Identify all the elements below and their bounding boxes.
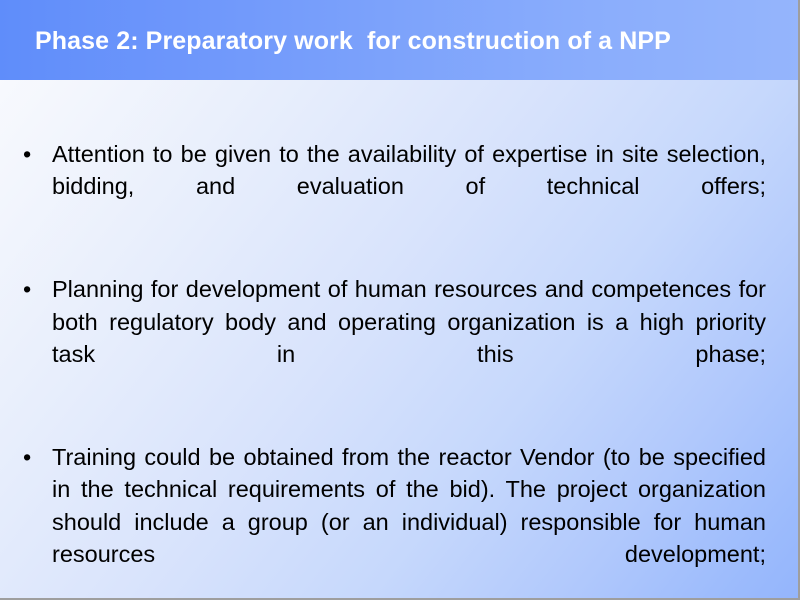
bullet-item-1: • Attention to be given to the availabil… (18, 138, 766, 235)
slide-title: Phase 2: Preparatory work for constructi… (35, 28, 780, 56)
slide-title-bar: Phase 2: Preparatory work for constructi… (0, 0, 800, 80)
slide-body: • Attention to be given to the availabil… (0, 80, 800, 600)
presentation-slide: Phase 2: Preparatory work for constructi… (0, 0, 800, 600)
bullet-marker-icon: • (23, 138, 31, 170)
bullet-marker-icon: • (23, 441, 31, 473)
bullet-list: • Attention to be given to the availabil… (18, 138, 766, 600)
bullet-marker-icon: • (23, 273, 31, 305)
bullet-text-3: Training could be obtained from the reac… (52, 441, 766, 600)
bullet-item-3: • Training could be obtained from the re… (18, 441, 766, 600)
bullet-text-1: Attention to be given to the availabilit… (52, 138, 766, 235)
bullet-text-2: Planning for development of human resour… (52, 273, 766, 403)
bullet-item-2: • Planning for development of human reso… (18, 273, 766, 403)
